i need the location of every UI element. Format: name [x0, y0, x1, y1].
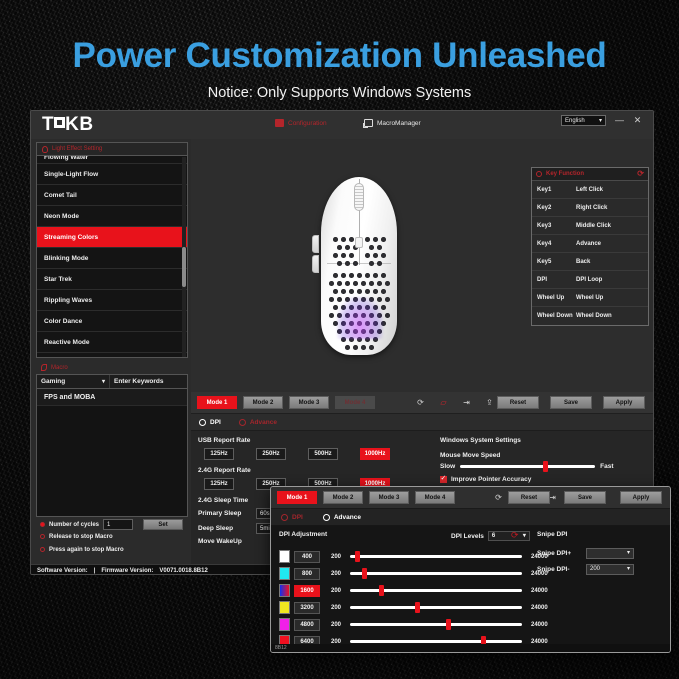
- brand-logo: TKB: [42, 114, 94, 136]
- dpi-levels-label: DPI Levels: [451, 533, 484, 540]
- dpi-levels-select[interactable]: 6 ▾: [488, 531, 530, 541]
- key-function-panel: Key Function ⟳ Key1Left Click Key2Right …: [531, 167, 649, 326]
- mouse-hole: [333, 237, 338, 242]
- list-item-label: Streaming Colors: [44, 234, 98, 241]
- key-name: Wheel Down: [532, 313, 576, 319]
- table-row[interactable]: Wheel UpWheel Up: [532, 289, 648, 307]
- mouse-hole: [341, 289, 346, 294]
- table-row[interactable]: Wheel DownWheel Down: [532, 307, 648, 325]
- dpi-icon: [281, 514, 288, 521]
- chevron-down-icon: ▾: [102, 379, 105, 385]
- mouse-preview-stage: Key Function ⟳ Key1Left Click Key2Right …: [191, 139, 653, 392]
- mouse-illustration: [313, 177, 405, 355]
- snipe-dpi-section: Snipe DPI Snipe DPI+ ▾ Snipe DPI- 200 ▾: [537, 531, 667, 577]
- dpi-row: 4800 200 24000: [279, 616, 670, 633]
- scrollbar-thumb[interactable]: [182, 247, 186, 287]
- mouse-hole: [381, 273, 386, 278]
- mouse-hole: [377, 261, 382, 266]
- key-function-header-label: Key Function: [546, 171, 584, 177]
- mode-button-3[interactable]: Mode 3: [289, 396, 329, 409]
- usb-rate-125[interactable]: 125Hz: [204, 448, 234, 460]
- key-value: Left Click: [576, 187, 648, 193]
- logo-square-glyph: [54, 117, 65, 128]
- mouse-hole: [357, 289, 362, 294]
- logo-text-left: T: [42, 114, 54, 135]
- color-swatch[interactable]: [279, 584, 290, 597]
- reset-circle-icon[interactable]: ⟳: [637, 170, 644, 178]
- close-button[interactable]: ✕: [632, 115, 643, 126]
- dialog-apply-button[interactable]: Apply: [620, 491, 662, 504]
- mouse-move-speed-slider-row: Slow Fast: [440, 463, 654, 470]
- refresh-icon[interactable]: ⟳: [493, 492, 504, 503]
- mouse-hole: [381, 237, 386, 242]
- key-value: Middle Click: [576, 223, 648, 229]
- mouse-rgb-glow: [337, 297, 383, 339]
- export-icon[interactable]: ⇪: [484, 397, 495, 408]
- dialog-tab-advance[interactable]: Advance: [323, 514, 361, 521]
- mouse-hole: [329, 297, 334, 302]
- dialog-footer: 8B12: [271, 644, 670, 652]
- dpi-value[interactable]: 800: [294, 568, 320, 580]
- bulb-icon: [42, 146, 48, 153]
- mouse-hole: [345, 261, 350, 266]
- dialog-dpi-adjustment-pane: DPI Adjustment DPI Levels 6 ▾ ⟳ 400 200 …: [271, 526, 670, 647]
- dpi-slider[interactable]: [350, 555, 522, 558]
- chevron-down-icon: ▾: [627, 566, 630, 572]
- radio-press-again-to-stop[interactable]: [40, 547, 45, 552]
- slider-knob[interactable]: [415, 602, 420, 613]
- dialog-sub-tab-bar: DPI Advance: [271, 509, 670, 526]
- color-swatch[interactable]: [279, 618, 290, 631]
- snipe-dpi-plus-label: Snipe DPI+: [537, 550, 581, 557]
- mouse-hole: [341, 273, 346, 278]
- key-value: Back: [576, 259, 648, 265]
- radio-release-to-stop-label: Release to stop Macro: [49, 534, 113, 540]
- slider-knob[interactable]: [446, 619, 451, 630]
- mouse-hole: [337, 281, 342, 286]
- mode-toolbar: Mode 1 Mode 2 Mode 3 Mode 4 ⟳ ▱ ⇥ ⇪ Rese…: [191, 392, 653, 414]
- primary-sleep-value: 60s: [260, 511, 270, 517]
- mouse-hole: [345, 345, 350, 350]
- dialog-mode-toolbar: Mode 1 Mode 2 Mode 3 Mode 4 ⟳ ▱ ⇥ ⇪ Rese…: [271, 487, 670, 509]
- mouse-hole: [361, 281, 366, 286]
- dpi-value[interactable]: 3200: [294, 602, 320, 614]
- slow-label: Slow: [440, 463, 455, 470]
- tab-advance-label: Advance: [250, 419, 277, 426]
- key-name: Wheel Up: [532, 295, 576, 301]
- checkbox-improve-pointer-accuracy[interactable]: [440, 476, 447, 483]
- target-icon: [536, 171, 542, 177]
- mouse-hole: [365, 289, 370, 294]
- list-item[interactable]: FPS and MOBA: [37, 389, 187, 406]
- mouse-hole: [345, 245, 350, 250]
- list-item-label: Rippling Waves: [44, 297, 92, 304]
- list-item-label: Flowing Water: [44, 156, 88, 161]
- snipe-dpi-minus-value: 200: [590, 566, 600, 572]
- scroll-wheel: [354, 183, 364, 211]
- slider-knob[interactable]: [379, 585, 384, 596]
- config-icon: [275, 119, 284, 127]
- macro-category-value: Gaming: [41, 378, 65, 385]
- firmware-version-value: V0071.0018.8B12: [159, 568, 207, 574]
- save-button[interactable]: Save: [550, 396, 592, 409]
- light-effect-list[interactable]: Flowing Water Single-Light Flow Comet Ta…: [36, 155, 188, 358]
- mouse-hole: [377, 245, 382, 250]
- dialog-mode-button-2[interactable]: Mode 2: [323, 491, 363, 504]
- macro-flag-icon: [41, 364, 47, 371]
- snipe-dpi-minus-select[interactable]: 200 ▾: [586, 564, 634, 575]
- mouse-body: [321, 177, 397, 355]
- snipe-dpi-title: Snipe DPI: [537, 531, 667, 538]
- logo-text-right: KB: [65, 114, 93, 135]
- dpi-settings-dialog: Mode 1 Mode 2 Mode 3 Mode 4 ⟳ ▱ ⇥ ⇪ Rese…: [270, 486, 671, 653]
- mouse-hole: [369, 261, 374, 266]
- dialog-reset-button[interactable]: Reset: [508, 491, 550, 504]
- dpi-slider[interactable]: [350, 606, 522, 609]
- deep-sleep-label: Deep Sleep: [198, 525, 256, 532]
- mouse-hole: [385, 313, 390, 318]
- key-value: Advance: [576, 241, 648, 247]
- key-value: DPI Loop: [576, 277, 648, 283]
- key-name: Key3: [532, 223, 576, 229]
- wireless-rate-125[interactable]: 125Hz: [204, 478, 234, 490]
- list-item[interactable]: Star Trek: [37, 269, 187, 290]
- dpi-button-illustration: [355, 237, 363, 248]
- mouse-hole: [349, 253, 354, 258]
- list-item[interactable]: Color Dance: [37, 311, 187, 332]
- mode-button-2[interactable]: Mode 2: [243, 396, 283, 409]
- macro-category-select[interactable]: Gaming ▾: [37, 375, 109, 388]
- dialog-mode-button-3[interactable]: Mode 3: [369, 491, 409, 504]
- key-value: Wheel Up: [576, 295, 648, 301]
- mouse-hole: [369, 245, 374, 250]
- table-row[interactable]: Key3Middle Click: [532, 217, 648, 235]
- mouse-hole: [365, 237, 370, 242]
- dpi-max-label: 24000: [531, 622, 548, 628]
- list-item-label: Neon Mode: [44, 213, 79, 220]
- key-function-header: Key Function ⟳: [532, 168, 648, 181]
- mouse-hole: [369, 281, 374, 286]
- radio-press-again-to-stop-label: Press again to stop Macro: [49, 547, 124, 553]
- list-item[interactable]: Blinking Mode: [37, 248, 187, 269]
- dpi-slider[interactable]: [350, 623, 522, 626]
- chevron-down-icon: ▾: [599, 118, 602, 124]
- usb-report-rate-label: USB Report Rate: [198, 437, 436, 444]
- wireless-report-rate-label: 2.4G Report Rate: [198, 467, 436, 474]
- mouse-move-speed-slider[interactable]: [460, 465, 595, 468]
- list-item-label: Star Trek: [44, 276, 72, 283]
- cycles-input[interactable]: 1: [103, 519, 133, 530]
- snipe-dpi-minus-label: Snipe DPI-: [537, 566, 581, 573]
- chevron-down-icon: ▾: [523, 533, 526, 539]
- mouse-hole: [333, 253, 338, 258]
- dpi-row: 1600 200 24000: [279, 582, 670, 599]
- macro-list[interactable]: FPS and MOBA: [36, 389, 188, 517]
- list-item[interactable]: Reactive Mode: [37, 332, 187, 353]
- list-item[interactable]: Comet Tail: [37, 185, 187, 206]
- list-item-label: Reactive Mode: [44, 339, 90, 346]
- language-select[interactable]: English ▾: [561, 115, 606, 126]
- mouse-hole: [333, 289, 338, 294]
- mouse-hole: [381, 253, 386, 258]
- radio-release-to-stop[interactable]: [40, 534, 45, 539]
- mode-button-4: Mode 4: [335, 396, 375, 409]
- tab-dpi[interactable]: DPI: [199, 419, 221, 426]
- mouse-hole: [333, 273, 338, 278]
- dpi-slider[interactable]: [350, 589, 522, 592]
- key-name: Key1: [532, 187, 576, 193]
- mouse-hole: [329, 313, 334, 318]
- dpi-min-label: 200: [324, 588, 341, 594]
- mouse-side-button-forward: [312, 235, 319, 253]
- table-row[interactable]: Key2Right Click: [532, 199, 648, 217]
- mouse-hole: [373, 273, 378, 278]
- macro-icon: [364, 119, 373, 127]
- color-swatch[interactable]: [279, 550, 290, 563]
- macro-header: Macro: [36, 361, 188, 374]
- key-name: DPI: [532, 277, 576, 283]
- key-value: Wheel Down: [576, 313, 648, 319]
- dpi-value[interactable]: 400: [294, 551, 320, 563]
- dialog-mode-button-4[interactable]: Mode 4: [415, 491, 455, 504]
- key-name: Key2: [532, 205, 576, 211]
- macro-keyword-input[interactable]: Enter Keywords: [109, 375, 187, 388]
- mouse-hole: [337, 261, 342, 266]
- tab-macromanager-label: MacroManager: [377, 120, 421, 127]
- left-sidebar: Light Effect Setting Flowing Water Singl…: [36, 142, 188, 562]
- dpi-max-label: 24000: [531, 588, 548, 594]
- advance-icon: [323, 514, 330, 521]
- windows-settings-title: Windows System Settings: [440, 437, 654, 444]
- set-button[interactable]: Set: [143, 519, 183, 530]
- list-scrollbar[interactable]: [182, 157, 186, 358]
- dpi-min-label: 200: [324, 622, 341, 628]
- mouse-hole: [345, 281, 350, 286]
- mouse-hole: [349, 289, 354, 294]
- dialog-tab-dpi-label: DPI: [292, 514, 303, 521]
- list-item-label: Blinking Mode: [44, 255, 88, 262]
- mouse-hole: [373, 289, 378, 294]
- tab-dpi-label: DPI: [210, 419, 221, 426]
- color-swatch[interactable]: [279, 567, 290, 580]
- reset-circle-icon[interactable]: ⟳: [511, 530, 519, 541]
- macro-cycles-row: Number of cycles 1 Set: [36, 519, 188, 530]
- mouse-hole: [369, 345, 374, 350]
- snipe-dpi-minus-row: Snipe DPI- 200 ▾: [537, 561, 667, 577]
- dpi-min-label: 200: [324, 605, 341, 611]
- mouse-hole: [365, 253, 370, 258]
- chevron-down-icon: ▾: [627, 550, 630, 556]
- radio-number-of-cycles[interactable]: [40, 522, 45, 527]
- dpi-slider[interactable]: [350, 572, 522, 575]
- tab-advance[interactable]: Advance: [239, 419, 277, 426]
- mouse-hole: [381, 289, 386, 294]
- mouse-hole: [361, 345, 366, 350]
- dpi-value-selected[interactable]: 1600: [294, 585, 320, 597]
- promo-banner: Power Customization Unleashed Notice: On…: [0, 0, 679, 110]
- language-value: English: [565, 118, 585, 124]
- minimize-button[interactable]: —: [614, 115, 625, 126]
- apply-button[interactable]: Apply: [603, 396, 645, 409]
- mode-button-1[interactable]: Mode 1: [197, 396, 237, 409]
- mouse-hole: [353, 261, 358, 266]
- advance-icon: [239, 419, 246, 426]
- mouse-hole: [349, 273, 354, 278]
- light-effect-header-label: Light Effect Setting: [52, 146, 102, 152]
- color-swatch[interactable]: [279, 601, 290, 614]
- dpi-max-label: 24000: [531, 605, 548, 611]
- dpi-levels-value: 6: [492, 533, 495, 539]
- mouse-hole: [337, 245, 342, 250]
- software-version-label: Software Version:: [37, 568, 88, 574]
- mouse-hole: [365, 273, 370, 278]
- window-titlebar: TKB Configuration MacroManager English ▾…: [31, 111, 653, 139]
- dpi-slider[interactable]: [350, 640, 522, 643]
- dpi-icon: [199, 419, 206, 426]
- mouse-hole: [373, 253, 378, 258]
- table-row[interactable]: Key4Advance: [532, 235, 648, 253]
- mouse-hole: [385, 297, 390, 302]
- slider-knob[interactable]: [362, 568, 367, 579]
- sub-tab-bar: DPI Advance: [191, 414, 653, 431]
- list-item[interactable]: Flowing Water: [37, 156, 187, 164]
- delete-icon[interactable]: ▱: [438, 397, 449, 408]
- key-name: Key5: [532, 259, 576, 265]
- list-item[interactable]: Neon Mode: [37, 206, 187, 227]
- slider-knob[interactable]: [355, 551, 360, 562]
- list-item-label: Color Dance: [44, 318, 82, 325]
- usb-rate-500[interactable]: 500Hz: [308, 448, 338, 460]
- mouse-hole: [329, 281, 334, 286]
- mouse-hole: [385, 281, 390, 286]
- list-item[interactable]: Single-Light Flow: [37, 164, 187, 185]
- fast-label: Fast: [600, 463, 613, 470]
- list-item-label: FPS and MOBA: [44, 394, 95, 401]
- firmware-version-label: Firmware Version:: [101, 568, 153, 574]
- tab-configuration[interactable]: Configuration: [275, 119, 327, 127]
- list-item-label: Comet Tail: [44, 192, 77, 199]
- mouse-hole: [377, 281, 382, 286]
- dialog-tab-dpi[interactable]: DPI: [281, 514, 303, 521]
- dialog-tab-advance-label: Advance: [334, 514, 361, 521]
- snipe-dpi-plus-select[interactable]: ▾: [586, 548, 634, 559]
- mouse-side-button-back: [312, 255, 319, 273]
- page-subtitle: Notice: Only Supports Windows Systems: [0, 85, 679, 101]
- light-effect-header: Light Effect Setting: [36, 142, 188, 155]
- mouse-hole: [341, 237, 346, 242]
- table-row[interactable]: Key1Left Click: [532, 181, 648, 199]
- usb-rate-1000[interactable]: 1000Hz: [360, 448, 390, 460]
- tab-configuration-label: Configuration: [288, 120, 327, 127]
- slider-knob[interactable]: [543, 461, 548, 472]
- macro-filter-bar: Gaming ▾ Enter Keywords: [36, 374, 188, 389]
- windows-settings-pane: Windows System Settings Mouse Move Speed…: [436, 431, 654, 483]
- tab-macromanager[interactable]: MacroManager: [364, 119, 421, 127]
- dialog-save-button[interactable]: Save: [564, 491, 606, 504]
- refresh-icon[interactable]: ⟳: [415, 397, 426, 408]
- macro-header-label: Macro: [51, 365, 68, 371]
- mouse-hole: [349, 237, 354, 242]
- radio-number-of-cycles-label: Number of cycles: [49, 522, 99, 528]
- mouse-hole: [341, 253, 346, 258]
- dpi-min-label: 200: [324, 554, 341, 560]
- page-title: Power Customization Unleashed: [0, 38, 679, 73]
- table-row[interactable]: Key5Back: [532, 253, 648, 271]
- mouse-hole: [353, 281, 358, 286]
- mouse-hole: [373, 237, 378, 242]
- status-divider: |: [94, 568, 96, 574]
- mouse-move-speed-label: Mouse Move Speed: [440, 452, 654, 459]
- mouse-hole: [357, 273, 362, 278]
- dialog-mode-button-1[interactable]: Mode 1: [277, 491, 317, 504]
- usb-rate-250[interactable]: 250Hz: [256, 448, 286, 460]
- dpi-value[interactable]: 4800: [294, 619, 320, 631]
- reset-button[interactable]: Reset: [497, 396, 539, 409]
- table-row[interactable]: DPIDPI Loop: [532, 271, 648, 289]
- usb-report-rate-options: 125Hz 250Hz 500Hz 1000Hz: [198, 448, 436, 460]
- dpi-min-label: 200: [324, 571, 341, 577]
- primary-sleep-label: Primary Sleep: [198, 510, 256, 517]
- import-icon[interactable]: ⇥: [461, 397, 472, 408]
- improve-pointer-accuracy-label: Improve Pointer Accuracy: [451, 476, 531, 483]
- list-item-active[interactable]: Streaming Colors: [37, 227, 187, 248]
- snipe-dpi-plus-row: Snipe DPI+ ▾: [537, 545, 667, 561]
- key-value: Right Click: [576, 205, 648, 211]
- dpi-adjustment-title: DPI Adjustment: [279, 531, 327, 538]
- key-name: Key4: [532, 241, 576, 247]
- radio-press-again-row[interactable]: Press again to stop Macro: [36, 543, 188, 556]
- mouse-hole: [353, 345, 358, 350]
- list-item-label: Single-Light Flow: [44, 171, 98, 178]
- radio-release-to-stop-row[interactable]: Release to stop Macro: [36, 530, 188, 543]
- improve-pointer-accuracy-row[interactable]: Improve Pointer Accuracy: [440, 476, 654, 483]
- dpi-row: 3200 200 24000: [279, 599, 670, 616]
- list-item[interactable]: Rippling Waves: [37, 290, 187, 311]
